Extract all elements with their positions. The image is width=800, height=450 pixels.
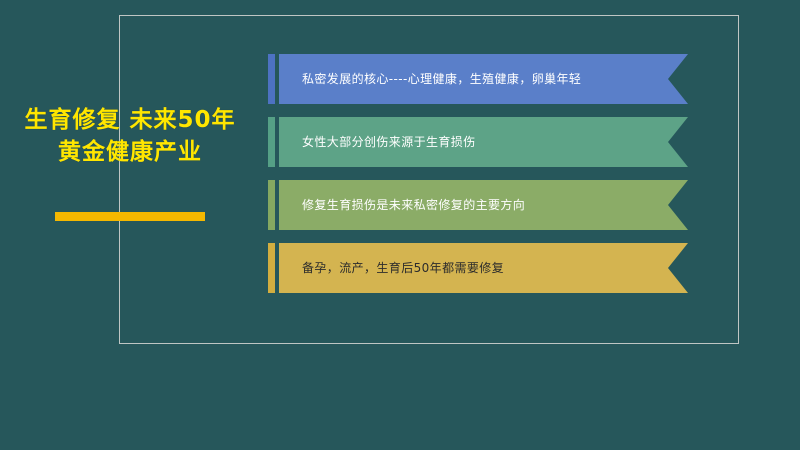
banner-list: 私密发展的核心----心理健康，生殖健康，卵巢年轻女性大部分创伤来源于生育损伤修…	[268, 54, 688, 306]
banner-accent-tab	[268, 117, 275, 167]
page-title: 生育修复 未来50年黄金健康产业	[22, 104, 238, 168]
title-underline-bar	[55, 212, 205, 221]
banner-body[interactable]: 女性大部分创伤来源于生育损伤	[279, 117, 688, 167]
banner-label: 修复生育损伤是未来私密修复的主要方向	[279, 197, 525, 213]
banner-label: 私密发展的核心----心理健康，生殖健康，卵巢年轻	[279, 71, 581, 87]
banner-row[interactable]: 女性大部分创伤来源于生育损伤	[268, 117, 688, 167]
banner-accent-tab	[268, 243, 275, 293]
title-block: 生育修复 未来50年黄金健康产业	[22, 104, 238, 168]
banner-label: 备孕，流产，生育后50年都需要修复	[279, 260, 504, 276]
banner-body[interactable]: 私密发展的核心----心理健康，生殖健康，卵巢年轻	[279, 54, 688, 104]
banner-body[interactable]: 修复生育损伤是未来私密修复的主要方向	[279, 180, 688, 230]
banner-accent-tab	[268, 54, 275, 104]
banner-row[interactable]: 修复生育损伤是未来私密修复的主要方向	[268, 180, 688, 230]
banner-accent-tab	[268, 180, 275, 230]
banner-body[interactable]: 备孕，流产，生育后50年都需要修复	[279, 243, 688, 293]
banner-row[interactable]: 私密发展的核心----心理健康，生殖健康，卵巢年轻	[268, 54, 688, 104]
banner-row[interactable]: 备孕，流产，生育后50年都需要修复	[268, 243, 688, 293]
slide-canvas: 生育修复 未来50年黄金健康产业 私密发展的核心----心理健康，生殖健康，卵巢…	[0, 0, 800, 450]
banner-label: 女性大部分创伤来源于生育损伤	[279, 134, 476, 150]
